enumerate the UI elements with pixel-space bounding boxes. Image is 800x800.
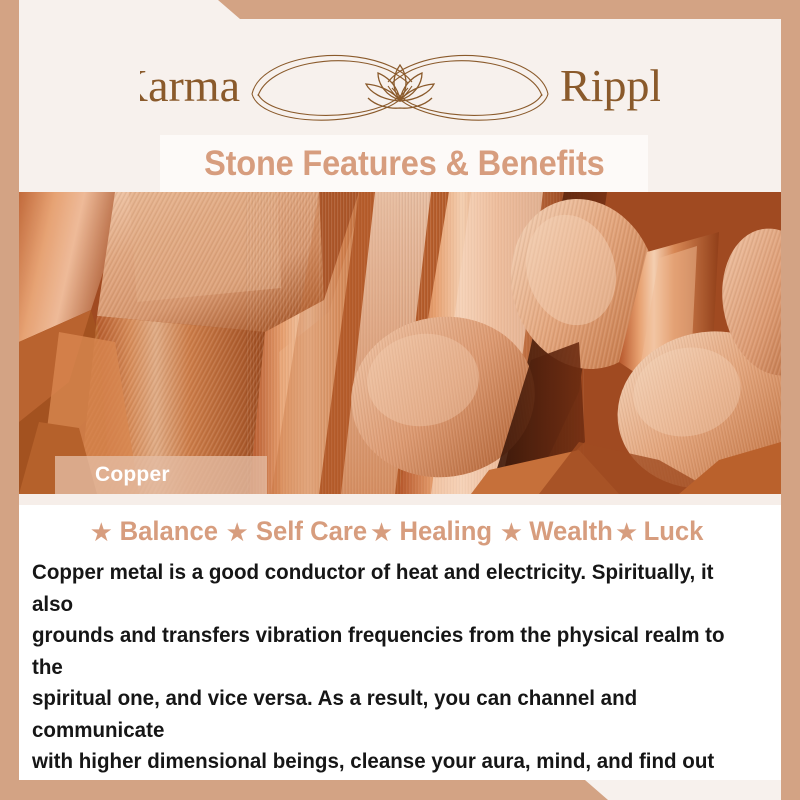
description-line: with higher dimensional beings, cleanse … bbox=[32, 746, 739, 780]
poster-canvas: Karma Ripple Stone Features & Benefits bbox=[19, 19, 781, 780]
star-icon: ★ bbox=[90, 519, 113, 545]
section-title-band: Stone Features & Benefits bbox=[160, 135, 648, 192]
description-text: Copper metal is a good conductor of heat… bbox=[32, 557, 739, 780]
benefit-label: Balance bbox=[120, 516, 218, 547]
description-line: grounds and transfers vibration frequenc… bbox=[32, 620, 739, 683]
benefit-item-wealth: ★ Wealth bbox=[500, 516, 615, 547]
brand-name-right: Ripple bbox=[560, 60, 660, 111]
benefit-label: Luck bbox=[644, 516, 704, 547]
copper-bars-illustration bbox=[19, 192, 781, 494]
frame-bottom-bar bbox=[0, 780, 800, 800]
photo-caption-banner: Copper bbox=[55, 456, 267, 494]
benefit-item-healing: ★ Healing bbox=[370, 516, 500, 547]
frame-right-bar bbox=[781, 0, 800, 800]
benefit-item-balance: ★ Balance bbox=[90, 516, 226, 547]
benefit-label: Wealth bbox=[529, 516, 613, 547]
frame-left-bar bbox=[0, 0, 19, 800]
poster-root: Karma Ripple Stone Features & Benefits bbox=[0, 0, 800, 800]
benefit-label: Self Care bbox=[256, 516, 367, 547]
benefit-item-self-care: ★ Self Care bbox=[225, 516, 369, 547]
product-photo: Copper bbox=[19, 192, 781, 494]
description-panel: ★ Balance ★ Self Care ★ Healing ★ Wealth… bbox=[19, 505, 781, 780]
star-icon: ★ bbox=[615, 519, 638, 545]
photo-bottom-strip bbox=[19, 494, 781, 505]
brand-logo: Karma Ripple bbox=[19, 35, 781, 131]
frame-top-bar bbox=[0, 0, 800, 19]
brand-logo-graphic: Karma Ripple bbox=[140, 38, 660, 128]
photo-caption-label: Copper bbox=[95, 463, 170, 487]
description-line: Copper metal is a good conductor of heat… bbox=[32, 557, 739, 620]
benefits-list: ★ Balance ★ Self Care ★ Healing ★ Wealth… bbox=[19, 516, 781, 547]
benefit-item-luck: ★ Luck bbox=[615, 516, 710, 547]
star-icon: ★ bbox=[370, 519, 393, 545]
brand-name-left: Karma bbox=[140, 60, 240, 111]
page-title: Stone Features & Benefits bbox=[204, 144, 605, 184]
benefit-label: Healing bbox=[400, 516, 493, 547]
description-line: spiritual one, and vice versa. As a resu… bbox=[32, 683, 739, 746]
star-icon: ★ bbox=[500, 519, 523, 545]
star-icon: ★ bbox=[225, 519, 248, 545]
